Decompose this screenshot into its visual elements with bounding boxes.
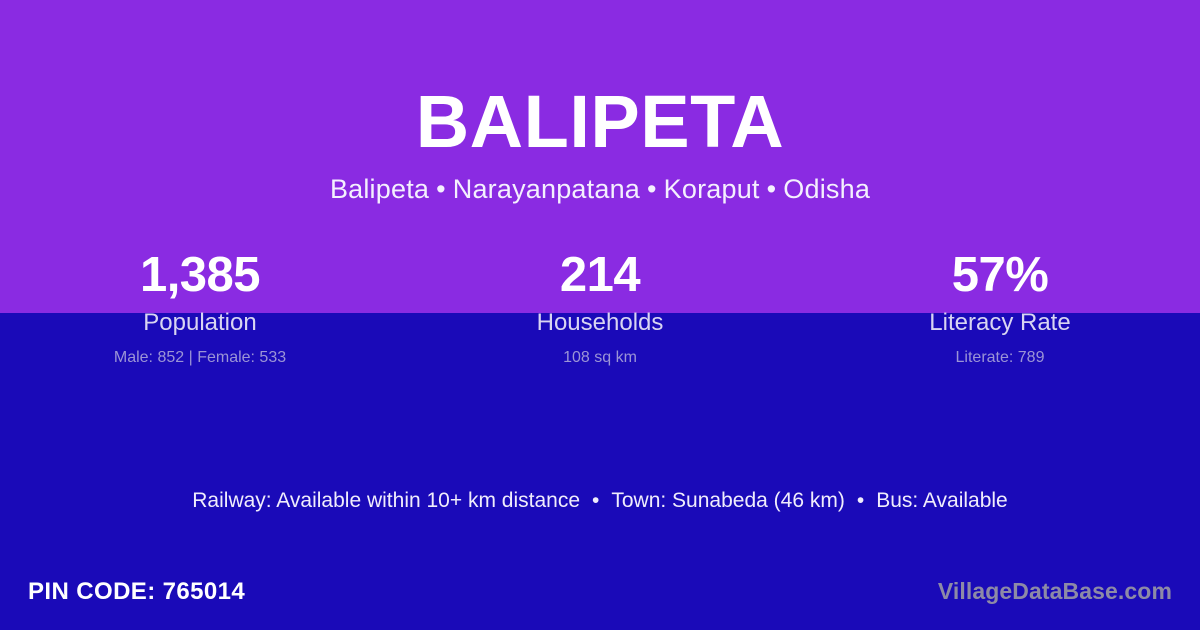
infrastructure-separator-2: • (845, 489, 876, 512)
infrastructure-item-railway: Railway: Available within 10+ km distanc… (192, 489, 580, 512)
pin-code: PIN CODE: 765014 (28, 578, 245, 607)
site-brand: VillageDataBase.com (938, 578, 1172, 606)
stat-label: Population (0, 309, 400, 338)
stat-label: Literacy Rate (800, 309, 1200, 338)
infrastructure-summary: Railway: Available within 10+ km distanc… (0, 487, 1200, 514)
infrastructure-item-town: Town: Sunabeda (46 km) (611, 489, 844, 512)
stat-sublabel: Male: 852 | Female: 533 (0, 348, 400, 367)
breadcrumb-separator-2: • (640, 174, 664, 204)
infrastructure-item-bus: Bus: Available (876, 489, 1008, 512)
card-footer: PIN CODE: 765014 VillageDataBase.com (0, 554, 1200, 630)
page-title: BALIPETA (0, 84, 1200, 159)
breadcrumb-separator-3: • (760, 174, 784, 204)
breadcrumb-village: Balipeta (330, 174, 429, 204)
breadcrumb: Balipeta•Narayanpatana•Koraput•Odisha (0, 173, 1200, 205)
card-header: BALIPETA Balipeta•Narayanpatana•Koraput•… (0, 0, 1200, 206)
stat-label: Households (400, 309, 800, 338)
breadcrumb-separator-1: • (429, 174, 453, 204)
stat-sublabel: Literate: 789 (800, 348, 1200, 367)
stat-households: 214 Households 108 sq km (400, 246, 800, 367)
stat-value: 1,385 (0, 246, 400, 306)
breadcrumb-block: Narayanpatana (453, 174, 640, 204)
village-info-card: BALIPETA Balipeta•Narayanpatana•Koraput•… (0, 0, 1200, 630)
stat-value: 57% (800, 246, 1200, 306)
infrastructure-separator-1: • (580, 489, 611, 512)
stats-row: 1,385 Population Male: 852 | Female: 533… (0, 246, 1200, 367)
stat-sublabel: 108 sq km (400, 348, 800, 367)
breadcrumb-state: Odisha (783, 174, 870, 204)
breadcrumb-district: Koraput (664, 174, 760, 204)
stat-population: 1,385 Population Male: 852 | Female: 533 (0, 246, 400, 367)
stat-value: 214 (400, 246, 800, 306)
stat-literacy-rate: 57% Literacy Rate Literate: 789 (800, 246, 1200, 367)
